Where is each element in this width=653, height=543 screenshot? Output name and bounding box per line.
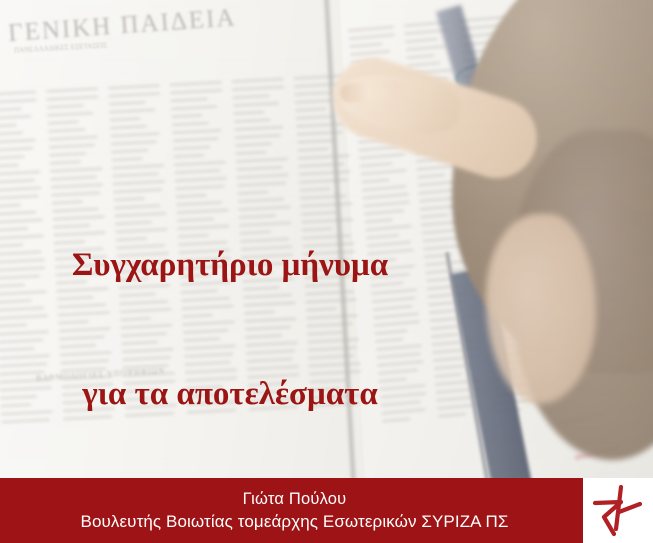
- bottom-banner: Γιώτα Πούλου Βουλευτής Βοιωτίας τομεάρχη…: [0, 478, 653, 543]
- poster: ΓΕΝΙΚΗ ΠΑΙΔΕΙΑ ΠΑΝΕΛΛΑΔΙΚΕΣ ΕΞΕΤΑΣΕΙΣ ΒΑ…: [0, 0, 653, 543]
- syriza-logo: [588, 482, 648, 540]
- person-role: Βουλευτής Βοιωτίας τομεάρχης Εσωτερικών …: [81, 510, 509, 534]
- logo-panel: [583, 478, 653, 543]
- headline-line-2: για τα αποτελέσματα: [0, 373, 460, 416]
- headline-line-1: Συγχαρητήριο μήνυμα: [0, 244, 460, 287]
- person-face: [486, 214, 596, 404]
- banner-text-block: Γιώτα Πούλου Βουλευτής Βοιωτίας τομεάρχη…: [0, 478, 583, 543]
- person-name: Γιώτα Πούλου: [243, 488, 347, 510]
